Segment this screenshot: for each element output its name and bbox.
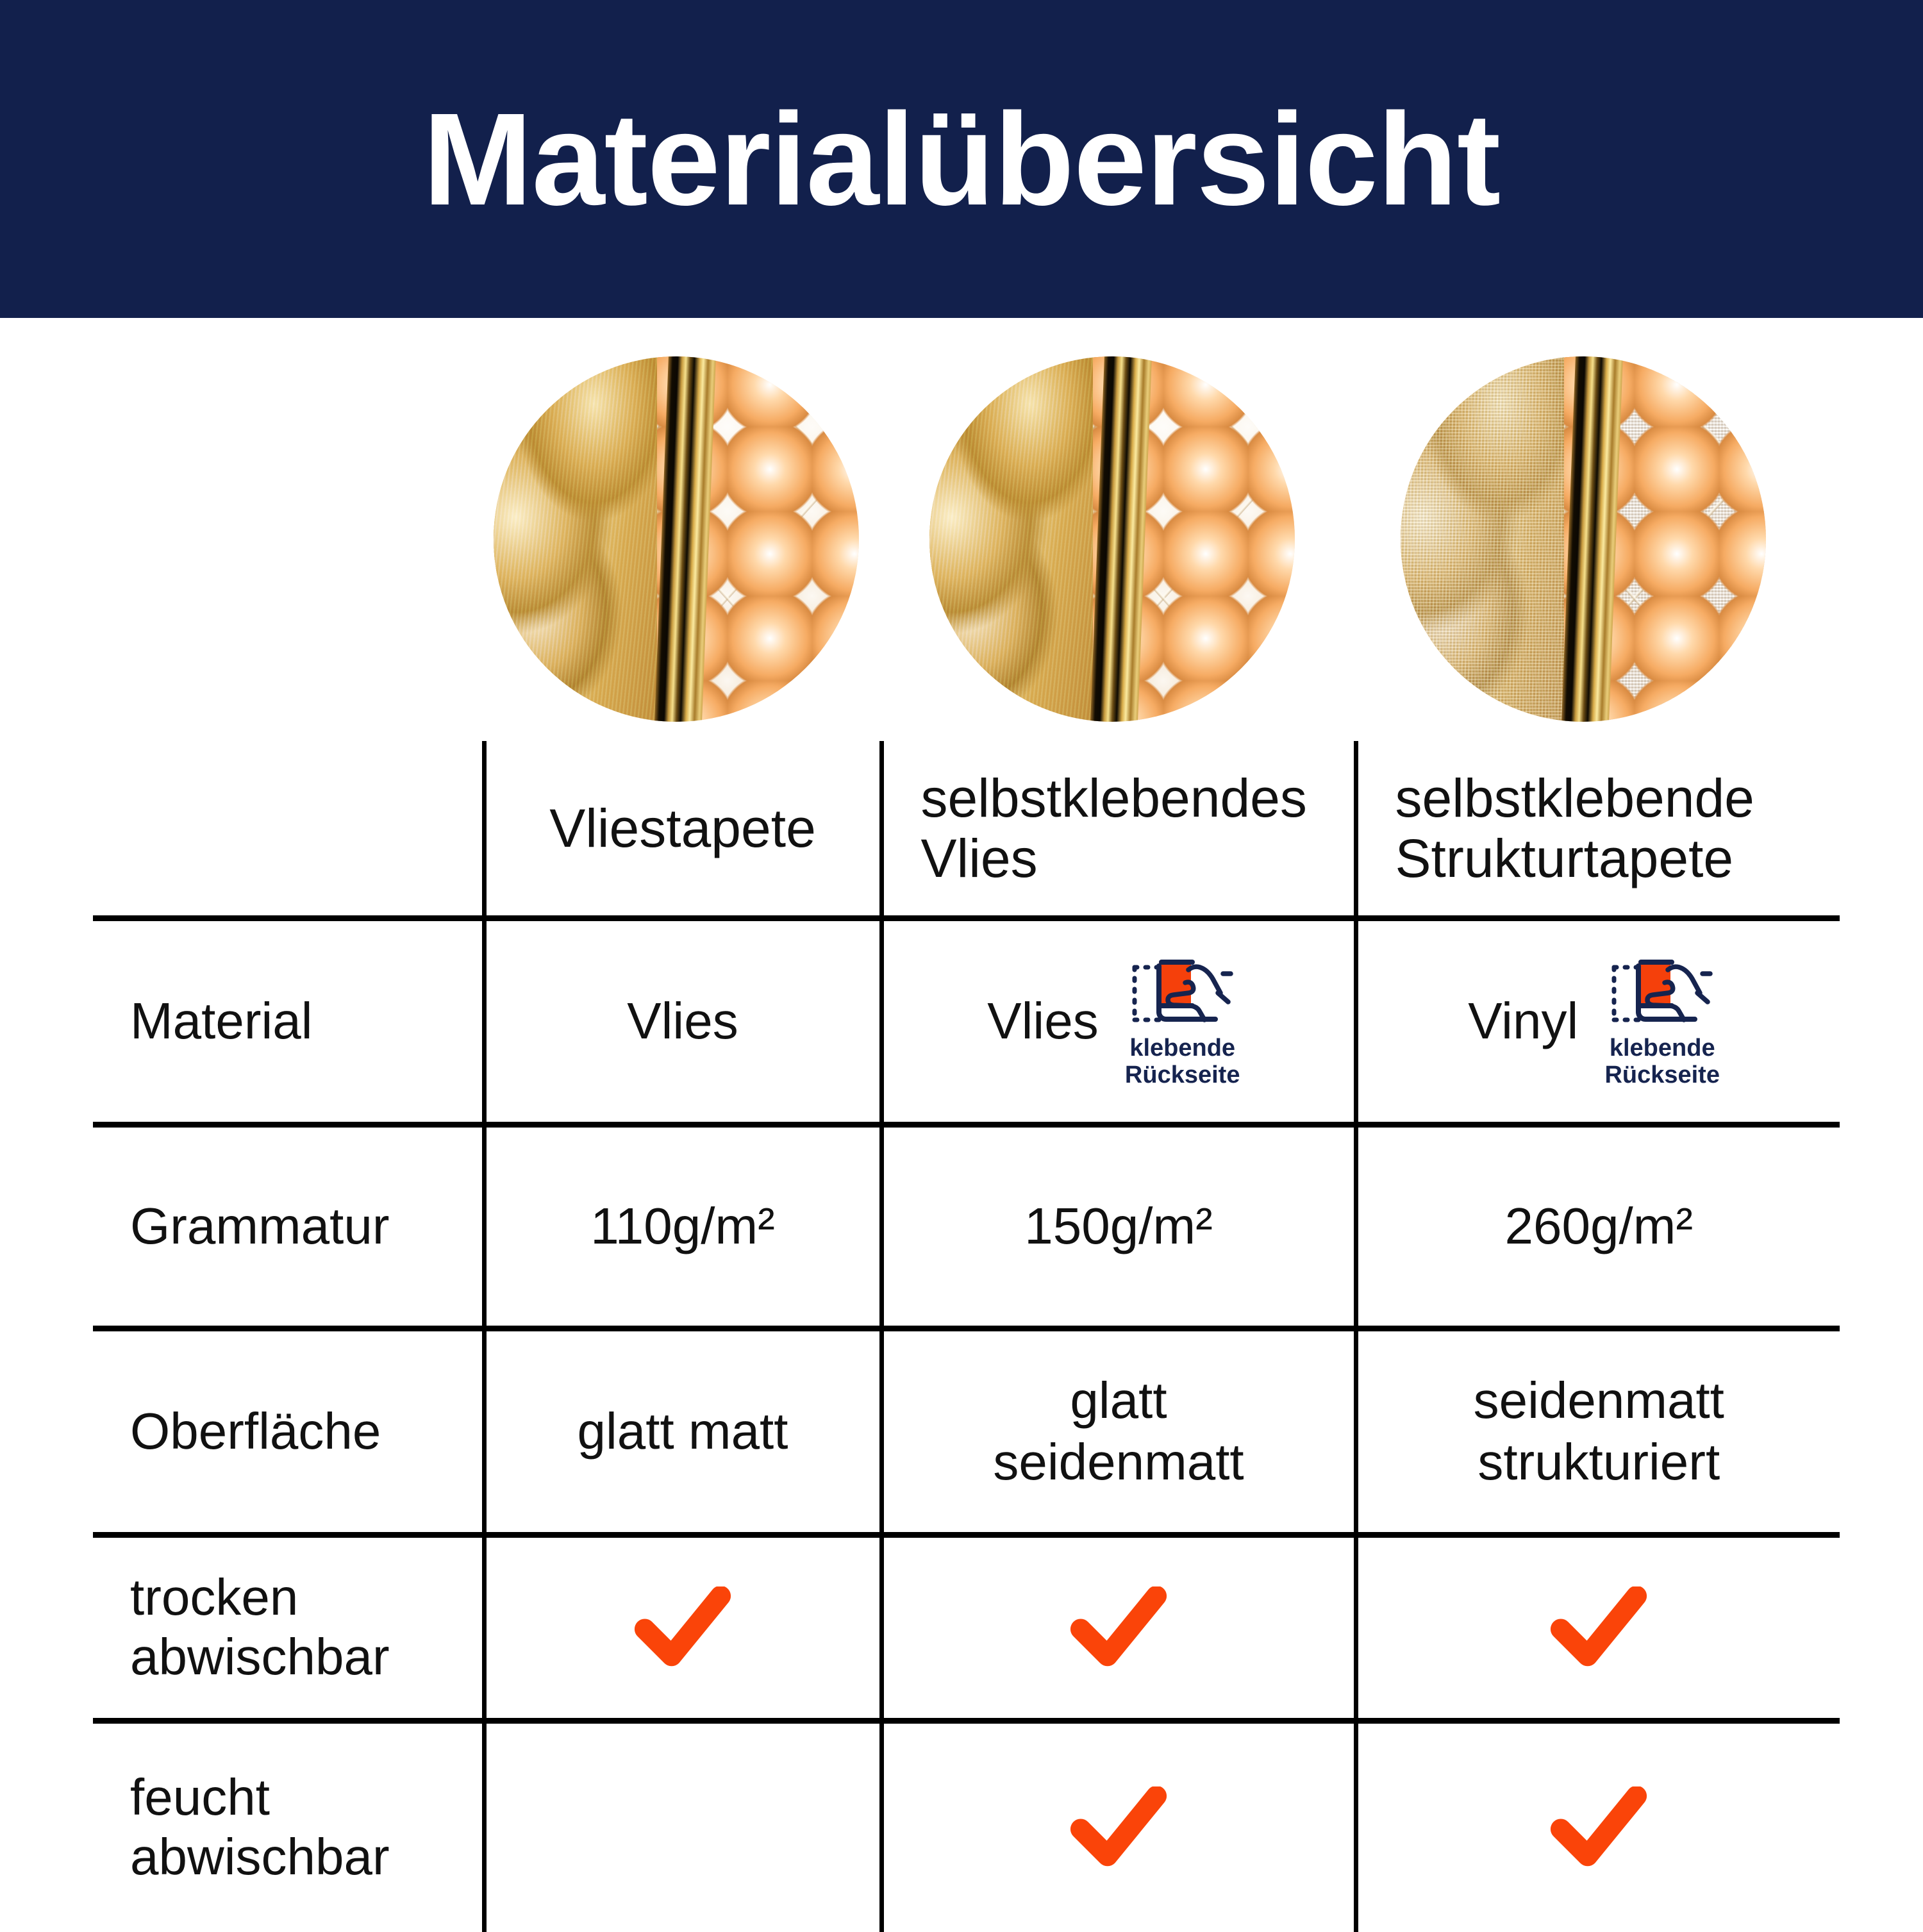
- cell-value: 150g/m²: [884, 1195, 1354, 1257]
- row-label: feuchtabwischbar: [93, 1768, 482, 1887]
- cell-value: Vlies: [987, 990, 1098, 1052]
- adhesive-back-icon: [1122, 953, 1244, 1030]
- header-cell-selbstklebende-strukturtapete: selbstklebende Strukturtapete: [1356, 741, 1840, 918]
- checkmark-icon: [1070, 1786, 1167, 1869]
- header-cell-selbstklebendes-vlies: selbstklebendes Vlies: [881, 741, 1356, 918]
- badge-line-2: Rückseite: [1125, 1062, 1240, 1088]
- checkmark-icon: [1070, 1586, 1167, 1669]
- product-image-row: [0, 350, 1923, 741]
- row-label-cell: Grammatur: [93, 1124, 484, 1328]
- cell-value: 260g/m²: [1358, 1195, 1840, 1257]
- checkmark-icon: [1551, 1786, 1647, 1869]
- column-header-label: selbstklebende Strukturtapete: [1358, 768, 1840, 888]
- badge-text: klebende Rückseite: [1125, 1035, 1240, 1089]
- material-comparison-table: Vliestapete selbstklebendes Vlies selbst…: [93, 741, 1840, 1932]
- badge-line-1: klebende: [1129, 1035, 1235, 1062]
- table-row-material: Material Vlies Vlies: [93, 918, 1840, 1124]
- cell-oberflaeche-selbstklebende-strukturtapete: seidenmattstrukturiert: [1356, 1328, 1840, 1535]
- cell-feucht-selbstklebendes-vlies: [881, 1720, 1356, 1932]
- table-row-feucht-abwischbar: feuchtabwischbar: [93, 1720, 1840, 1932]
- cell-value: glatt matt: [487, 1401, 879, 1462]
- product-image-selbstklebende-strukturtapete: [1401, 356, 1766, 722]
- tufted-leather-panel: [1598, 356, 1766, 722]
- cell-oberflaeche-vliestapete: glatt matt: [484, 1328, 881, 1535]
- header-cell-empty: [93, 741, 484, 918]
- row-label-cell: Material: [93, 918, 484, 1124]
- product-image-selbstklebendes-vlies: [929, 356, 1295, 722]
- cell-material-selbstklebende-strukturtapete: Vinyl: [1356, 918, 1840, 1124]
- cell-material-selbstklebendes-vlies: Vlies: [881, 918, 1356, 1124]
- cell-trocken-selbstklebendes-vlies: [881, 1535, 1356, 1720]
- product-thumbnail: [494, 356, 859, 722]
- cell-trocken-selbstklebende-strukturtapete: [1356, 1535, 1840, 1720]
- cell-material-vliestapete: Vlies: [484, 918, 881, 1124]
- row-label: Material: [93, 992, 482, 1051]
- cell-value: Vlies: [487, 990, 879, 1052]
- row-label-cell: Oberfläche: [93, 1328, 484, 1535]
- golden-rose-panel: [929, 356, 1112, 722]
- table-row-oberflaeche: Oberfläche glatt matt glattseidenmatt se…: [93, 1328, 1840, 1535]
- product-thumbnail: [929, 356, 1295, 722]
- table-row-trocken-abwischbar: trockenabwischbar: [93, 1535, 1840, 1720]
- adhesive-back-badge: klebende Rückseite: [1115, 953, 1250, 1089]
- golden-rose-panel: [494, 356, 676, 722]
- product-image-vliestapete: [494, 356, 859, 722]
- cell-grammatur-selbstklebendes-vlies: 150g/m²: [881, 1124, 1356, 1328]
- row-label: Grammatur: [93, 1197, 482, 1256]
- page-title: Materialübersicht: [423, 94, 1500, 225]
- cell-feucht-vliestapete: [484, 1720, 881, 1932]
- rose-texture-overlay: [929, 356, 1112, 722]
- cell-trocken-vliestapete: [484, 1535, 881, 1720]
- cell-grammatur-vliestapete: 110g/m²: [484, 1124, 881, 1328]
- cell-value: Vinyl: [1468, 990, 1578, 1052]
- row-label-cell: trockenabwischbar: [93, 1535, 484, 1720]
- checkmark-icon: [635, 1586, 731, 1669]
- header-cell-vliestapete: Vliestapete: [484, 741, 881, 918]
- row-label: trockenabwischbar: [93, 1568, 482, 1687]
- tufted-leather-panel: [691, 356, 859, 722]
- badge-text: klebende Rückseite: [1604, 1035, 1720, 1089]
- row-label-cell: feuchtabwischbar: [93, 1720, 484, 1932]
- column-header-label: Vliestapete: [487, 798, 879, 858]
- product-thumbnail: [1401, 356, 1766, 722]
- cell-feucht-selbstklebende-strukturtapete: [1356, 1720, 1840, 1932]
- cell-grammatur-selbstklebende-strukturtapete: 260g/m²: [1356, 1124, 1840, 1328]
- cell-value: 110g/m²: [487, 1195, 879, 1257]
- cell-oberflaeche-selbstklebendes-vlies: glattseidenmatt: [881, 1328, 1356, 1535]
- cell-value: glattseidenmatt: [884, 1370, 1354, 1493]
- badge-line-1: klebende: [1610, 1035, 1715, 1062]
- golden-rose-panel: [1401, 356, 1583, 722]
- structure-weave-overlay: [1401, 356, 1583, 722]
- table-header-row: Vliestapete selbstklebendes Vlies selbst…: [93, 741, 1840, 918]
- page-header: Materialübersicht: [0, 0, 1923, 318]
- adhesive-back-badge: klebende Rückseite: [1595, 953, 1729, 1089]
- rose-texture-overlay: [494, 356, 676, 722]
- adhesive-back-icon: [1601, 953, 1723, 1030]
- column-header-label: selbstklebendes Vlies: [884, 768, 1354, 888]
- cell-value: seidenmattstrukturiert: [1358, 1370, 1840, 1493]
- badge-line-2: Rückseite: [1604, 1062, 1720, 1088]
- table-row-grammatur: Grammatur 110g/m² 150g/m² 260g/m²: [93, 1124, 1840, 1328]
- checkmark-icon: [1551, 1586, 1647, 1669]
- row-label: Oberfläche: [93, 1402, 482, 1461]
- tufted-leather-panel: [1127, 356, 1295, 722]
